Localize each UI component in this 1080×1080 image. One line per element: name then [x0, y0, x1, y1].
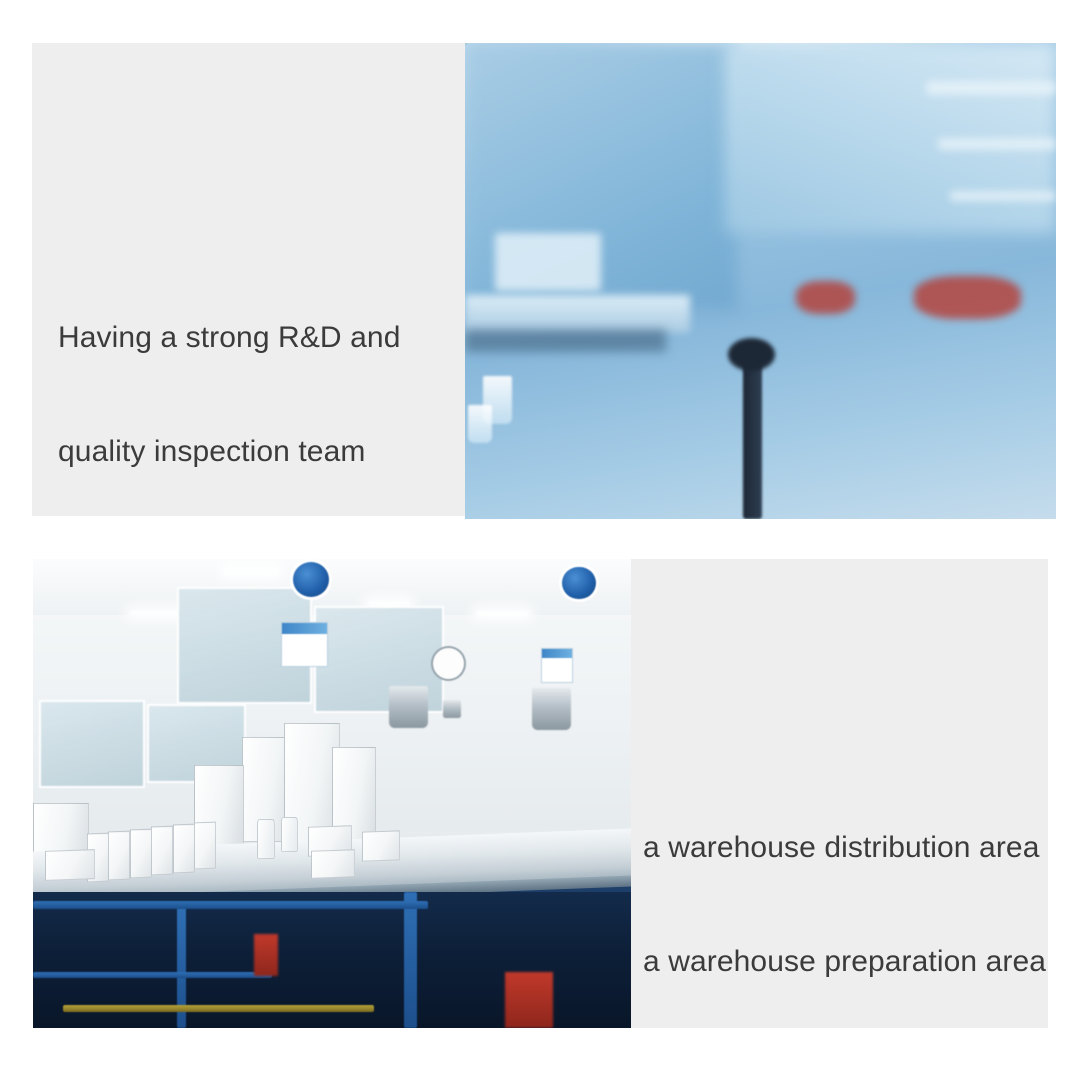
lab-stand: [743, 348, 762, 519]
caption-line: quality inspection team: [58, 433, 458, 471]
lab-shelf: [950, 191, 1056, 201]
caption-line: a warehouse distribution area: [643, 829, 1043, 867]
ceiling-light: [476, 611, 530, 616]
blue-table-rail: [33, 901, 428, 909]
rnd-quality-caption: Having a strong R&D and quality inspecti…: [58, 243, 458, 547]
caption-line: a warehouse preparation area: [643, 943, 1043, 981]
white-carton: [108, 831, 130, 881]
lab-equipment-block: [495, 233, 601, 290]
white-carton: [45, 849, 95, 881]
blue-circular-sign: [293, 562, 329, 597]
warehouse-packing-photo: [33, 559, 631, 1028]
ceiling-light: [129, 611, 183, 616]
ceiling-light: [224, 568, 278, 575]
lab-shelf: [938, 138, 1056, 149]
red-object: [254, 934, 278, 976]
interior-window: [39, 700, 145, 788]
lab-red-containers: [796, 281, 855, 314]
lab-counter-shadow: [465, 329, 666, 353]
stainless-pot: [443, 700, 461, 719]
blue-circular-sign: [562, 567, 595, 600]
beaker: [468, 405, 492, 443]
white-carton: [194, 821, 216, 868]
lab-shelf: [926, 81, 1056, 95]
white-carton: [130, 828, 152, 878]
white-carton: [173, 824, 195, 874]
warehouse-areas-caption: a warehouse distribution area a warehous…: [643, 753, 1043, 1057]
blue-table-rail: [63, 1005, 374, 1013]
blue-table-rail: [33, 972, 272, 979]
wall-placard: [541, 648, 573, 683]
lab-quality-inspection-photo: [465, 43, 1056, 519]
white-bottle: [281, 817, 297, 852]
stainless-pot: [532, 688, 571, 730]
lab-stand-knob: [728, 338, 775, 371]
banner-page: Having a strong R&D and quality inspecti…: [0, 0, 1080, 1080]
white-carton: [311, 849, 355, 878]
caption-line: Having a strong R&D and: [58, 319, 458, 357]
lab-red-containers: [914, 276, 1020, 319]
wall-clock: [431, 646, 466, 681]
red-object: [505, 972, 553, 1028]
safety-glasses: [465, 43, 467, 45]
white-carton: [151, 826, 173, 876]
wall-placard: [281, 622, 328, 666]
blue-table-leg: [404, 892, 417, 1028]
white-carton: [362, 830, 400, 861]
stainless-pot: [389, 686, 428, 728]
white-bottle: [257, 819, 275, 859]
